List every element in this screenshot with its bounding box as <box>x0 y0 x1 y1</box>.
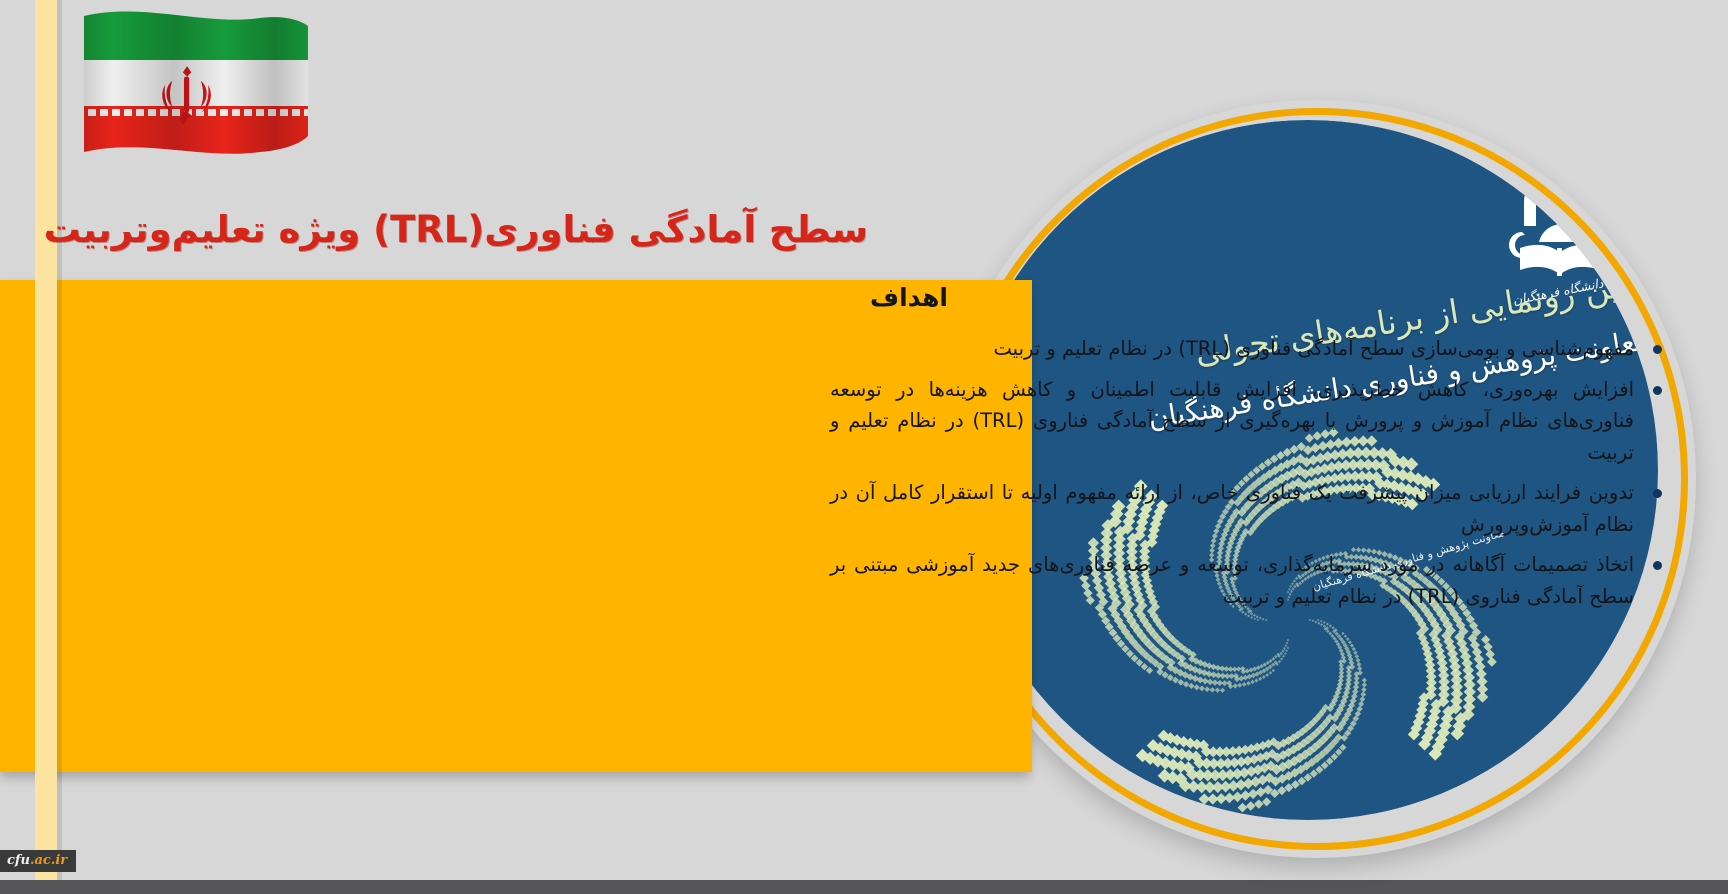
objective-text: اتخاذ تصمیمات آگاهانه در مورد سرمایه‌گذا… <box>830 553 1634 608</box>
bullet-icon <box>1653 386 1662 395</box>
list-item: مفهوم‌شناسی و بومی‌سازی سطح آمادگی فناور… <box>830 333 1670 365</box>
bullet-icon <box>1653 561 1662 570</box>
objective-text: افزایش بهره‌وری، کاهش خطرپذیری، افزایش ق… <box>830 378 1634 464</box>
objectives-list: مفهوم‌شناسی و بومی‌سازی سطح آمادگی فناور… <box>830 333 1670 622</box>
objectives-heading: اهداف <box>870 283 948 312</box>
list-item: تدوین فرایند ارزیابی میزان پیشرفت یک فنا… <box>830 477 1670 540</box>
iran-flag-icon <box>48 4 320 172</box>
bullet-icon <box>1653 489 1662 498</box>
objective-text: مفهوم‌شناسی و بومی‌سازی سطح آمادگی فناور… <box>994 337 1634 360</box>
list-item: اتخاذ تصمیمات آگاهانه در مورد سرمایه‌گذا… <box>830 549 1670 612</box>
watermark-domain: .ac.ir <box>30 853 67 868</box>
list-item: افزایش بهره‌وری، کاهش خطرپذیری، افزایش ق… <box>830 374 1670 469</box>
page-title: سطح آمادگی فناوری(TRL) ویژه تعلیم‌وتربیت <box>44 208 868 251</box>
poster-canvas: دانشگاه فرهنگیان آئین رونمایی از برنامه‌… <box>0 0 1728 894</box>
bullet-icon <box>1653 345 1662 354</box>
bottom-bar <box>0 880 1728 894</box>
watermark-name: cfu <box>7 853 30 868</box>
site-watermark: cfu.ac.ir <box>0 850 76 872</box>
objective-text: تدوین فرایند ارزیابی میزان پیشرفت یک فنا… <box>830 481 1634 536</box>
